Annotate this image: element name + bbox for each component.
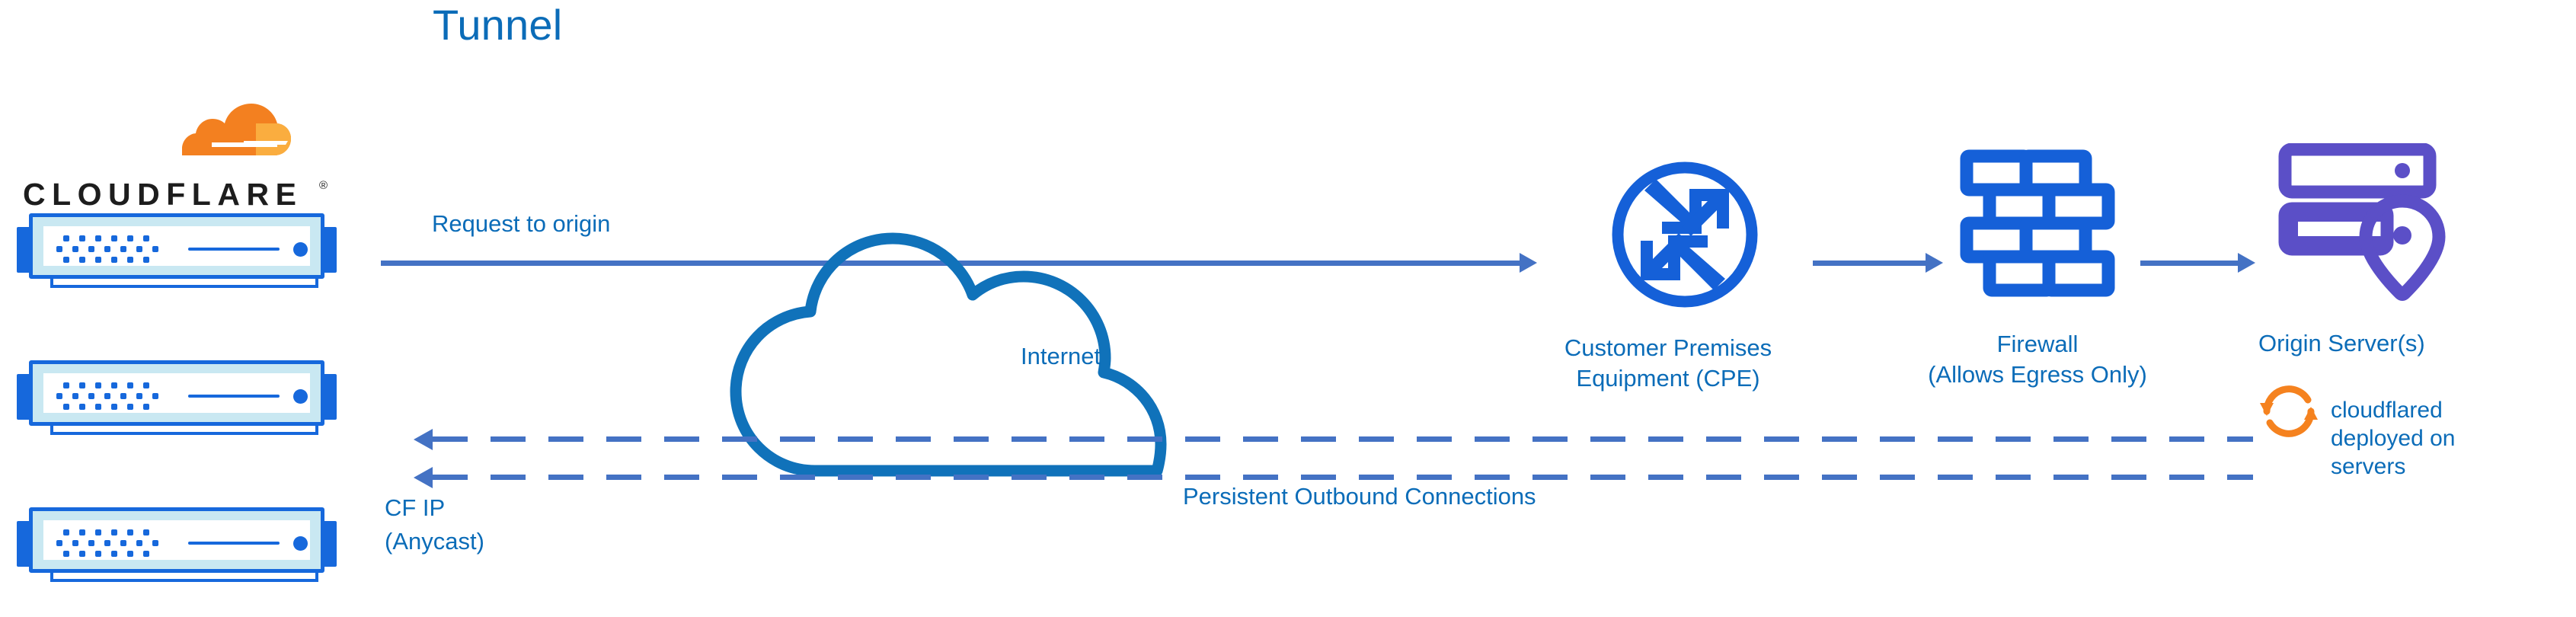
origin-server-node	[2276, 143, 2459, 303]
firewall-to-origin-arrowhead	[2238, 253, 2255, 273]
rack-server-3	[17, 507, 337, 580]
internet-label: Internet	[1021, 342, 1101, 371]
page-title: Tunnel	[433, 0, 562, 50]
server-dot-matrix-icon	[56, 382, 155, 411]
server-dot-matrix-icon	[56, 529, 155, 558]
server-status-line	[188, 542, 280, 545]
cloudflare-logo: CLOUDFLARE ®	[23, 107, 328, 213]
server-led-icon	[293, 389, 308, 404]
firewall-to-origin-line	[2140, 261, 2238, 266]
firewall-label: Firewall (Allows Egress Only)	[1878, 329, 2197, 390]
server-panel	[43, 520, 310, 560]
cpe-to-firewall-arrowhead	[1926, 253, 1943, 273]
persistent-outbound-label: Persistent Outbound Connections	[1183, 482, 1536, 511]
server-location-pin-icon	[2276, 143, 2459, 303]
server-shadow	[50, 277, 318, 288]
cpe-label-line-2: Equipment (CPE)	[1508, 363, 1828, 394]
orange-sync-arrows-icon	[2256, 379, 2322, 444]
cf-ip-line-1: CF IP	[385, 491, 484, 525]
request-to-origin-label: Request to origin	[432, 209, 610, 238]
persistent-outbound-line-upper	[433, 436, 2253, 442]
cloud-outline-icon	[708, 229, 1181, 480]
request-to-origin-arrowhead	[1520, 253, 1537, 273]
cloudflared-annotation-label: cloudflared deployed on servers	[2331, 396, 2521, 481]
rack-server-1	[17, 213, 337, 286]
origin-server-label: Origin Server(s)	[2258, 329, 2425, 358]
cf-ip-anycast-label: CF IP (Anycast)	[385, 491, 484, 558]
cloudflared-sync-icon-wrap	[2256, 379, 2322, 444]
server-status-line	[188, 248, 280, 251]
server-shadow	[50, 571, 318, 582]
firewall-label-line-1: Firewall	[1878, 329, 2197, 360]
cf-ip-line-2: (Anycast)	[385, 525, 484, 558]
server-led-icon	[293, 536, 308, 551]
firewall-node	[1958, 149, 2117, 305]
registered-trademark-mark: ®	[319, 179, 328, 192]
server-status-line	[188, 395, 280, 398]
persistent-outbound-line-lower	[433, 475, 2253, 480]
server-body	[29, 360, 324, 426]
internet-cloud	[708, 229, 1181, 480]
server-panel	[43, 226, 310, 266]
server-body	[29, 507, 324, 573]
cloudflare-wordmark: CLOUDFLARE	[23, 177, 302, 213]
cpe-label: Customer Premises Equipment (CPE)	[1508, 333, 1828, 394]
tunnel-architecture-diagram: Tunnel CLOUDFLARE ®	[0, 0, 2576, 617]
server-panel	[43, 373, 310, 413]
cpe-node	[1609, 158, 1761, 311]
server-dot-matrix-icon	[56, 235, 155, 264]
cpe-label-line-1: Customer Premises	[1508, 333, 1828, 363]
server-shadow	[50, 424, 318, 435]
cpe-to-firewall-line	[1813, 261, 1926, 266]
firewall-label-line-2: (Allows Egress Only)	[1878, 360, 2197, 390]
persistent-outbound-arrowhead-upper	[414, 429, 433, 450]
server-body	[29, 213, 324, 279]
persistent-outbound-arrowhead-lower	[414, 467, 433, 488]
brick-wall-icon	[1958, 149, 2117, 305]
server-led-icon	[293, 242, 308, 257]
rack-server-2	[17, 360, 337, 433]
cloudflare-cloud-icon	[122, 101, 320, 173]
router-converging-arrows-icon	[1609, 158, 1761, 311]
